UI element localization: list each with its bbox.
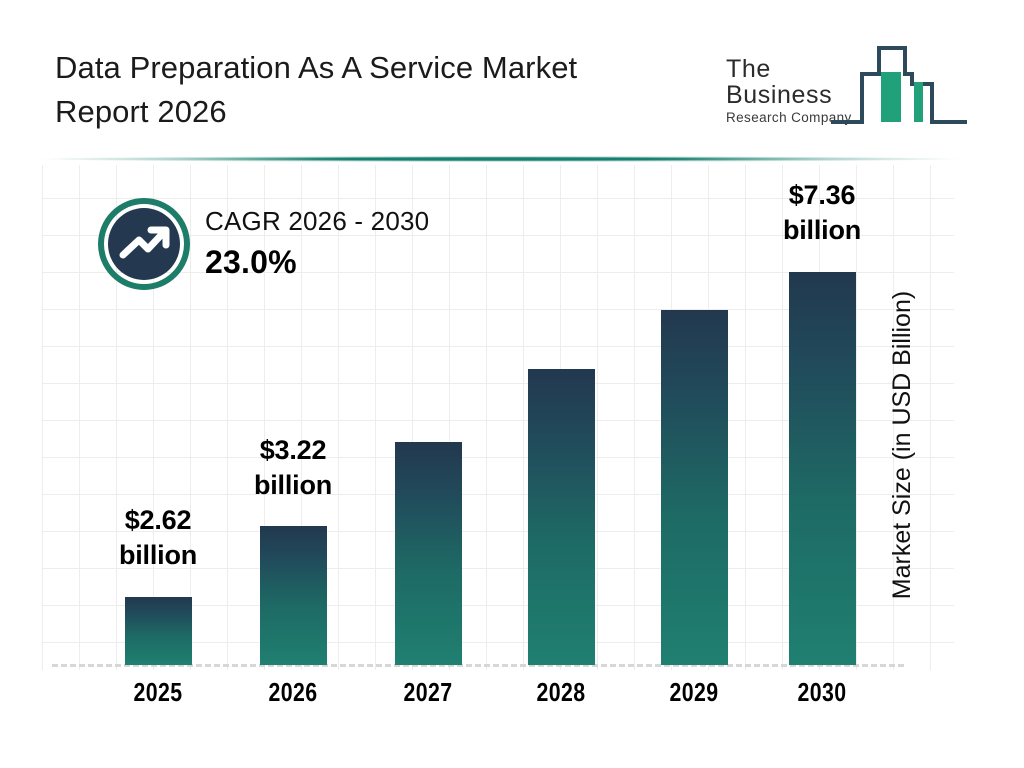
cagr-badge: CAGR 2026 - 2030 23.0% [98, 198, 498, 298]
bar-2026[interactable] [260, 526, 327, 665]
bar-value-label-2026: $3.22 billion [233, 433, 353, 503]
cagr-period-label: CAGR 2026 - 2030 [205, 204, 429, 238]
x-tick-2030: 2030 [773, 677, 871, 708]
y-axis-title: Market Size (in USD Billion) [888, 275, 917, 615]
bar-2030[interactable] [789, 272, 856, 665]
cagr-value-label: 23.0% [205, 242, 429, 282]
x-tick-2027: 2027 [379, 677, 477, 708]
x-tick-2026: 2026 [244, 677, 342, 708]
x-tick-2025: 2025 [109, 677, 207, 708]
bar-2029[interactable] [661, 310, 728, 665]
x-tick-2028: 2028 [512, 677, 610, 708]
x-tick-2029: 2029 [645, 677, 743, 708]
bar-chart: $2.62 billion $3.22 billion $7.36 billio… [0, 165, 1024, 705]
bar-value-label-2025: $2.62 billion [98, 503, 218, 573]
company-logo: The Business Research Company [726, 34, 976, 130]
x-axis: 2025 2026 2027 2028 2029 2030 [0, 677, 1024, 723]
bar-value-label-2030: $7.36 billion [762, 178, 882, 248]
page-title: Data Preparation As A Service Market Rep… [55, 46, 715, 134]
bar-2025[interactable] [125, 597, 192, 665]
cagr-trending-up-icon [98, 198, 190, 290]
header-divider [36, 156, 962, 162]
header: Data Preparation As A Service Market Rep… [0, 0, 1024, 150]
cagr-text-block: CAGR 2026 - 2030 23.0% [205, 204, 429, 282]
bar-2028[interactable] [528, 369, 595, 665]
bar-2027[interactable] [395, 442, 462, 665]
bar-chart-outline-logo-mark-icon [829, 34, 969, 135]
